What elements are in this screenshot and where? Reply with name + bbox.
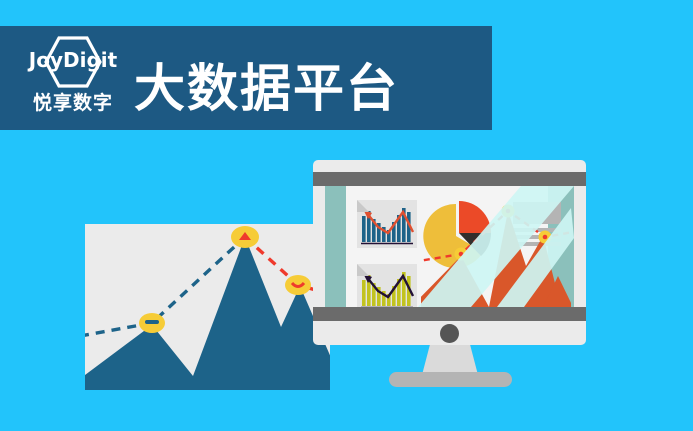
desktop-monitor	[313, 160, 586, 345]
mountain-area-orange-chart[interactable]	[421, 204, 571, 307]
monitor-bottom-bezel	[313, 307, 586, 321]
bar-chart-yellow-card[interactable]	[357, 264, 417, 307]
monitor-stand-neck	[422, 345, 478, 375]
bar-chart-blue	[357, 200, 417, 248]
page-title: 大数据平台	[134, 64, 399, 115]
poster-canvas: JoyDigit 悦享数字 大数据平台	[0, 0, 693, 431]
brand-logo-wordmark: JoyDigit	[18, 50, 128, 70]
brand-logo-subtitle: 悦享数字	[18, 94, 128, 113]
brand-logo: JoyDigit 悦享数字	[18, 34, 128, 122]
monitor-stand-base	[389, 372, 512, 387]
data-node-1-center	[459, 252, 464, 257]
screen-side-strip-left	[325, 186, 346, 307]
camera-dot-icon	[440, 324, 459, 343]
monitor-screen	[325, 186, 574, 307]
area-peaks-blue	[85, 237, 330, 390]
header-banner: JoyDigit 悦享数字 大数据平台	[0, 26, 492, 130]
data-node-3-center	[543, 235, 548, 240]
bar-chart-blue-card[interactable]	[357, 200, 417, 248]
mountain-area-blue-chart	[85, 224, 330, 390]
bar-chart-yellow	[357, 264, 417, 307]
area-peaks-orange	[421, 211, 571, 307]
mountain-area-blue-panel	[85, 224, 330, 390]
data-node-2-center	[506, 209, 511, 214]
monitor-top-bezel	[313, 172, 586, 186]
